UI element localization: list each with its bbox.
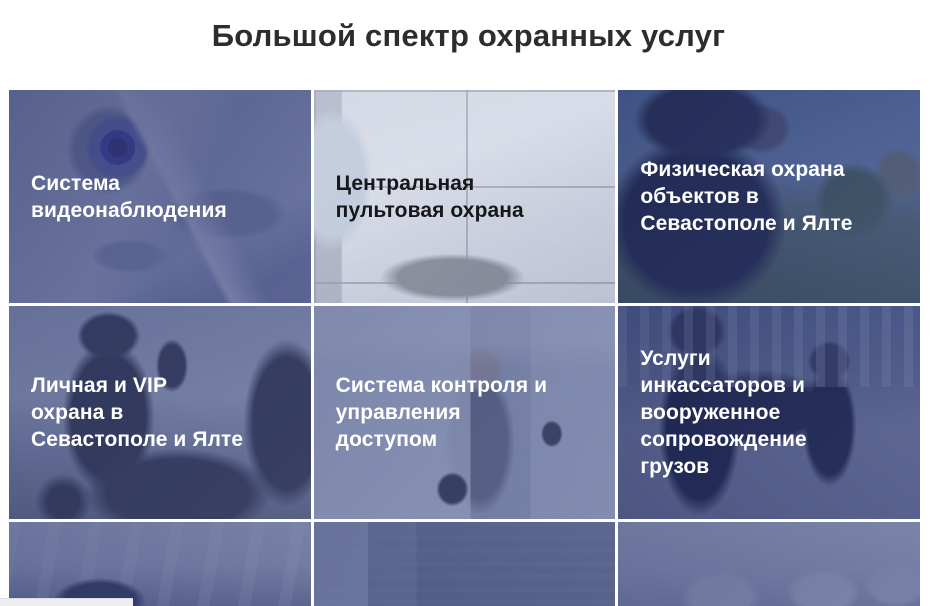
page-title: Большой спектр охранных услуг <box>0 16 937 56</box>
service-tile-title: Система видеонаблюдения <box>9 170 249 224</box>
service-tile-vip-protection[interactable]: Личная и VIP охрана в Севастополе и Ялте <box>9 306 311 519</box>
tile-overlay <box>314 522 616 606</box>
service-tile-row3-left[interactable] <box>9 522 311 606</box>
services-grid: Система видеонаблюдения Центральная пуль… <box>9 90 920 606</box>
service-tile-title: Центральная пультовая охрана <box>314 170 546 224</box>
tile-overlay <box>9 522 311 606</box>
service-tile-title: Услуги инкассаторов и вооруженное сопров… <box>618 345 829 480</box>
service-tile-title: Физическая охрана объектов в Севастополе… <box>618 156 874 237</box>
browser-status-bar <box>0 598 133 606</box>
service-tile-row3-center[interactable] <box>314 522 616 606</box>
service-tile-title: Личная и VIP охрана в Севастополе и Ялте <box>9 372 265 453</box>
tile-overlay <box>618 522 920 606</box>
services-page: Большой спектр охранных услуг Система ви… <box>0 0 937 606</box>
service-tile-video-surveillance[interactable]: Система видеонаблюдения <box>9 90 311 303</box>
service-tile-cash-collection[interactable]: Услуги инкассаторов и вооруженное сопров… <box>618 306 920 519</box>
service-tile-physical-security[interactable]: Физическая охрана объектов в Севастополе… <box>618 90 920 303</box>
service-tile-central-monitoring[interactable]: Центральная пультовая охрана <box>314 90 616 303</box>
service-tile-title: Система контроля и управления доступом <box>314 372 570 453</box>
service-tile-row3-right[interactable] <box>618 522 920 606</box>
service-tile-access-control[interactable]: Система контроля и управления доступом <box>314 306 616 519</box>
